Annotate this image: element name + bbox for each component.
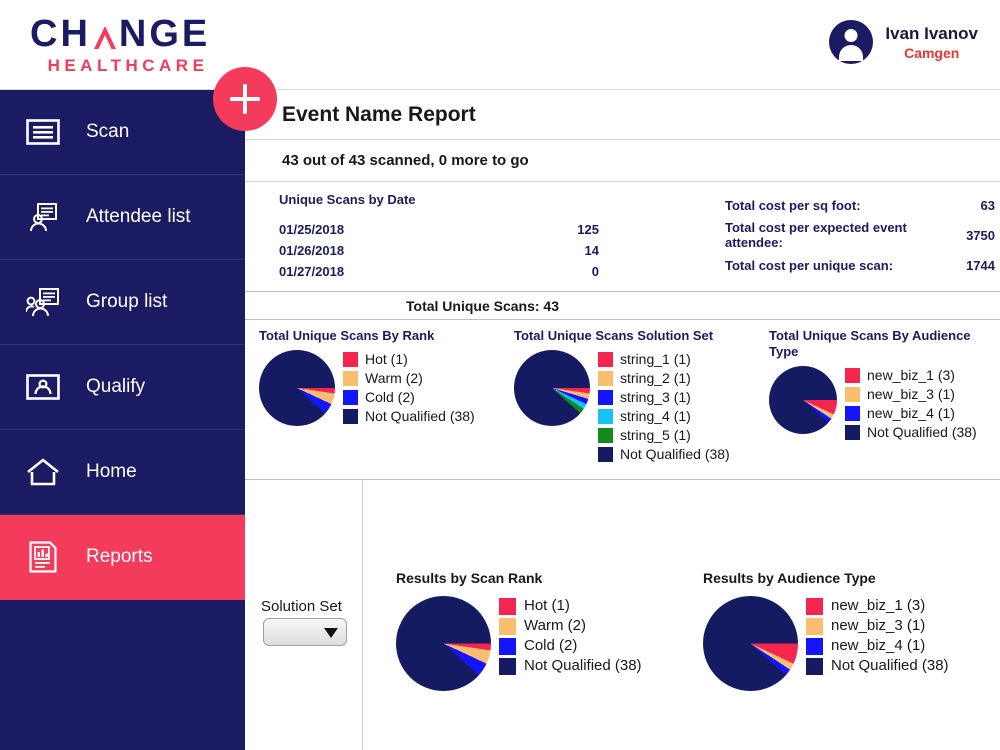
legend-swatch — [499, 638, 516, 655]
attendee-list-icon — [0, 202, 86, 232]
legend-label: Not Qualified (38) — [620, 445, 730, 464]
user-organization: Camgen — [885, 44, 978, 62]
legend-item: string_4 (1) — [598, 407, 730, 426]
pie-graphic — [769, 366, 837, 434]
legend-item: Not Qualified (38) — [343, 407, 475, 426]
solution-set-label: Solution Set — [261, 598, 342, 615]
sidebar-item-group-list[interactable]: Group list — [0, 260, 245, 345]
summary-section: Unique Scans by Date 01/25/201812501/26/… — [245, 182, 1000, 292]
legend-item: string_5 (1) — [598, 426, 730, 445]
logo-word-part-1: CH — [30, 14, 91, 54]
total-unique-scans-label: Total Unique Scans: 43 — [406, 298, 559, 314]
legend-swatch — [343, 352, 358, 367]
logo-word-part-2: NGE — [119, 14, 210, 54]
cost-metric-row: Total cost per sq foot:63 — [725, 190, 995, 220]
sidebar-item-label: Group list — [86, 291, 167, 313]
legend-item: string_2 (1) — [598, 369, 730, 388]
legend-swatch — [598, 428, 613, 443]
chart-legend: new_biz_1 (3)new_biz_3 (1)new_biz_4 (1)N… — [806, 596, 949, 676]
legend-label: new_biz_1 (3) — [867, 366, 955, 385]
cost-metric-label: Total cost per sq foot: — [725, 198, 861, 213]
scan-date: 01/25/2018 — [279, 219, 344, 240]
cost-metrics-table: Total cost per sq foot:63Total cost per … — [725, 190, 995, 280]
legend-swatch — [598, 352, 613, 367]
legend-item: new_biz_3 (1) — [845, 385, 977, 404]
legend-item: new_biz_1 (3) — [806, 596, 949, 616]
legend-label: string_4 (1) — [620, 407, 691, 426]
legend-swatch — [845, 387, 860, 402]
legend-swatch — [806, 658, 823, 675]
legend-item: Not Qualified (38) — [598, 445, 730, 464]
legend-item: Not Qualified (38) — [499, 656, 642, 676]
scan-status-text: 43 out of 43 scanned, 0 more to go — [282, 152, 529, 169]
chart-total-unique-scans-by-rank: Total Unique Scans By RankHot (1)Warm (2… — [245, 320, 500, 479]
legend-label: Cold (2) — [365, 388, 415, 407]
unique-scans-table-header: Unique Scans by Date — [279, 192, 729, 207]
chart-results-by-audience-type: Results by Audience Typenew_biz_1 (3)new… — [669, 480, 979, 750]
legend-label: new_biz_4 (1) — [867, 404, 955, 423]
top-charts-band: Total Unique Scans By RankHot (1)Warm (2… — [245, 320, 1000, 480]
scan-date-row: 01/27/20180 — [279, 261, 599, 282]
legend-label: Warm (2) — [365, 369, 423, 388]
unique-scans-by-date-table: Unique Scans by Date 01/25/201812501/26/… — [279, 192, 729, 282]
chart-legend: new_biz_1 (3)new_biz_3 (1)new_biz_4 (1)N… — [845, 366, 977, 442]
legend-label: Not Qualified (38) — [365, 407, 475, 426]
legend-label: Not Qualified (38) — [867, 423, 977, 442]
chart-title: Results by Scan Rank — [396, 570, 669, 586]
main-content: Event Name Report 43 out of 43 scanned, … — [245, 90, 1000, 750]
legend-item: string_1 (1) — [598, 350, 730, 369]
legend-item: Warm (2) — [343, 369, 475, 388]
logo-wordmark: CHNGE — [30, 14, 230, 54]
chart-total-unique-scans-solution-set: Total Unique Scans Solution Setstring_1 … — [500, 320, 755, 479]
results-section: Solution Set Results by Scan RankHot (1)… — [245, 480, 1000, 750]
legend-swatch — [806, 618, 823, 635]
legend-item: Not Qualified (38) — [845, 423, 977, 442]
add-floating-button[interactable] — [213, 67, 277, 131]
chart-results-by-scan-rank: Results by Scan RankHot (1)Warm (2)Cold … — [364, 480, 669, 750]
scan-card-icon — [0, 119, 86, 145]
legend-swatch — [598, 447, 613, 462]
legend-item: Hot (1) — [499, 596, 642, 616]
legend-label: Cold (2) — [524, 636, 577, 656]
change-healthcare-logo: CHNGE HEALTHCARE — [30, 14, 230, 76]
legend-label: string_1 (1) — [620, 350, 691, 369]
results-charts-band: Results by Scan RankHot (1)Warm (2)Cold … — [364, 480, 1000, 750]
scan-count: 0 — [539, 261, 599, 282]
cost-metric-label: Total cost per unique scan: — [725, 258, 893, 273]
plus-icon-vertical — [243, 84, 247, 114]
sidebar-item-label: Reports — [86, 546, 153, 568]
logo-subtitle: HEALTHCARE — [30, 56, 226, 76]
total-unique-scans-row: Total Unique Scans: 43 — [245, 292, 1000, 320]
avatar-head-icon — [845, 29, 858, 42]
legend-item: Warm (2) — [499, 616, 642, 636]
legend-item: string_3 (1) — [598, 388, 730, 407]
legend-item: Cold (2) — [343, 388, 475, 407]
logo-triangle-a-icon — [92, 20, 118, 48]
pie-graphic — [396, 596, 491, 691]
legend-item: Cold (2) — [499, 636, 642, 656]
sidebar-item-attendee-list[interactable]: Attendee list — [0, 175, 245, 260]
scan-date: 01/26/2018 — [279, 240, 344, 261]
legend-swatch — [598, 371, 613, 386]
cost-metric-row: Total cost per expected event attendee:3… — [725, 220, 995, 250]
chart-legend: Hot (1)Warm (2)Cold (2)Not Qualified (38… — [499, 596, 642, 676]
sidebar-item-scan[interactable]: Scan — [0, 90, 245, 175]
legend-label: Not Qualified (38) — [524, 656, 642, 676]
legend-swatch — [343, 409, 358, 424]
sidebar-filler — [0, 600, 245, 685]
sidebar-nav: ScanAttendee listGroup listQualifyHomeRe… — [0, 90, 245, 750]
user-name: Ivan Ivanov — [885, 23, 978, 44]
solution-set-select[interactable] — [263, 618, 347, 646]
chart-title: Results by Audience Type — [703, 570, 979, 586]
sidebar-item-qualify[interactable]: Qualify — [0, 345, 245, 430]
chart-legend: string_1 (1)string_2 (1)string_3 (1)stri… — [598, 350, 730, 464]
cost-metric-value: 3750 — [945, 228, 995, 243]
legend-swatch — [598, 409, 613, 424]
solution-set-filter-panel: Solution Set — [245, 480, 363, 750]
legend-item: new_biz_3 (1) — [806, 616, 949, 636]
legend-item: Not Qualified (38) — [806, 656, 949, 676]
chart-title: Total Unique Scans Solution Set — [514, 328, 755, 344]
legend-swatch — [499, 598, 516, 615]
chart-legend: Hot (1)Warm (2)Cold (2)Not Qualified (38… — [343, 350, 475, 426]
legend-swatch — [806, 598, 823, 615]
sidebar-item-reports[interactable]: Reports — [0, 515, 245, 600]
report-page: CHNGE HEALTHCARE Ivan Ivanov Camgen Scan… — [0, 0, 1000, 750]
cost-metric-row: Total cost per unique scan:1744 — [725, 250, 995, 280]
legend-label: new_biz_4 (1) — [831, 636, 925, 656]
legend-swatch — [845, 406, 860, 421]
page-title-row: Event Name Report — [245, 90, 1000, 140]
scan-count: 14 — [539, 240, 599, 261]
sidebar-item-label: Scan — [86, 121, 129, 143]
legend-label: string_3 (1) — [620, 388, 691, 407]
legend-swatch — [343, 371, 358, 386]
legend-label: string_2 (1) — [620, 369, 691, 388]
qualify-badge-icon — [0, 374, 86, 400]
avatar-body-icon — [839, 45, 863, 61]
legend-swatch — [598, 390, 613, 405]
chart-total-unique-scans-by-audience-type: Total Unique Scans By Audience Typenew_b… — [755, 320, 1000, 479]
user-menu[interactable]: Ivan Ivanov Camgen — [829, 20, 978, 64]
legend-item: new_biz_4 (1) — [845, 404, 977, 423]
legend-label: string_5 (1) — [620, 426, 691, 445]
home-icon — [0, 458, 86, 486]
legend-swatch — [845, 368, 860, 383]
legend-label: Not Qualified (38) — [831, 656, 949, 676]
cost-metric-value: 63 — [945, 198, 995, 213]
sidebar-item-label: Qualify — [86, 376, 145, 398]
chart-title: Total Unique Scans By Audience Type — [769, 328, 984, 360]
legend-swatch — [499, 658, 516, 675]
cost-metric-label: Total cost per expected event attendee: — [725, 220, 910, 250]
cost-metric-value: 1744 — [945, 258, 995, 273]
sidebar-item-home[interactable]: Home — [0, 430, 245, 515]
legend-label: new_biz_3 (1) — [867, 385, 955, 404]
legend-label: Hot (1) — [524, 596, 570, 616]
group-list-icon — [0, 287, 86, 317]
legend-label: Warm (2) — [524, 616, 586, 636]
legend-swatch — [806, 638, 823, 655]
scan-status-row: 43 out of 43 scanned, 0 more to go — [245, 140, 1000, 182]
legend-label: new_biz_3 (1) — [831, 616, 925, 636]
page-title: Event Name Report — [282, 103, 476, 127]
legend-label: Hot (1) — [365, 350, 408, 369]
sidebar-item-label: Home — [86, 461, 137, 483]
legend-item: new_biz_1 (3) — [845, 366, 977, 385]
reports-document-icon — [0, 541, 86, 573]
legend-swatch — [343, 390, 358, 405]
chevron-down-icon — [324, 628, 338, 638]
scan-date-row: 01/26/201814 — [279, 240, 599, 261]
avatar — [829, 20, 873, 64]
scan-date: 01/27/2018 — [279, 261, 344, 282]
chart-title: Total Unique Scans By Rank — [259, 328, 500, 344]
pie-graphic — [514, 350, 590, 426]
legend-item: new_biz_4 (1) — [806, 636, 949, 656]
sidebar-item-label: Attendee list — [86, 206, 191, 228]
legend-swatch — [845, 425, 860, 440]
top-bar: CHNGE HEALTHCARE Ivan Ivanov Camgen — [0, 0, 1000, 90]
scan-count: 125 — [539, 219, 599, 240]
legend-swatch — [499, 618, 516, 635]
legend-label: new_biz_1 (3) — [831, 596, 925, 616]
pie-graphic — [259, 350, 335, 426]
scan-date-row: 01/25/2018125 — [279, 219, 599, 240]
legend-item: Hot (1) — [343, 350, 475, 369]
pie-graphic — [703, 596, 798, 691]
